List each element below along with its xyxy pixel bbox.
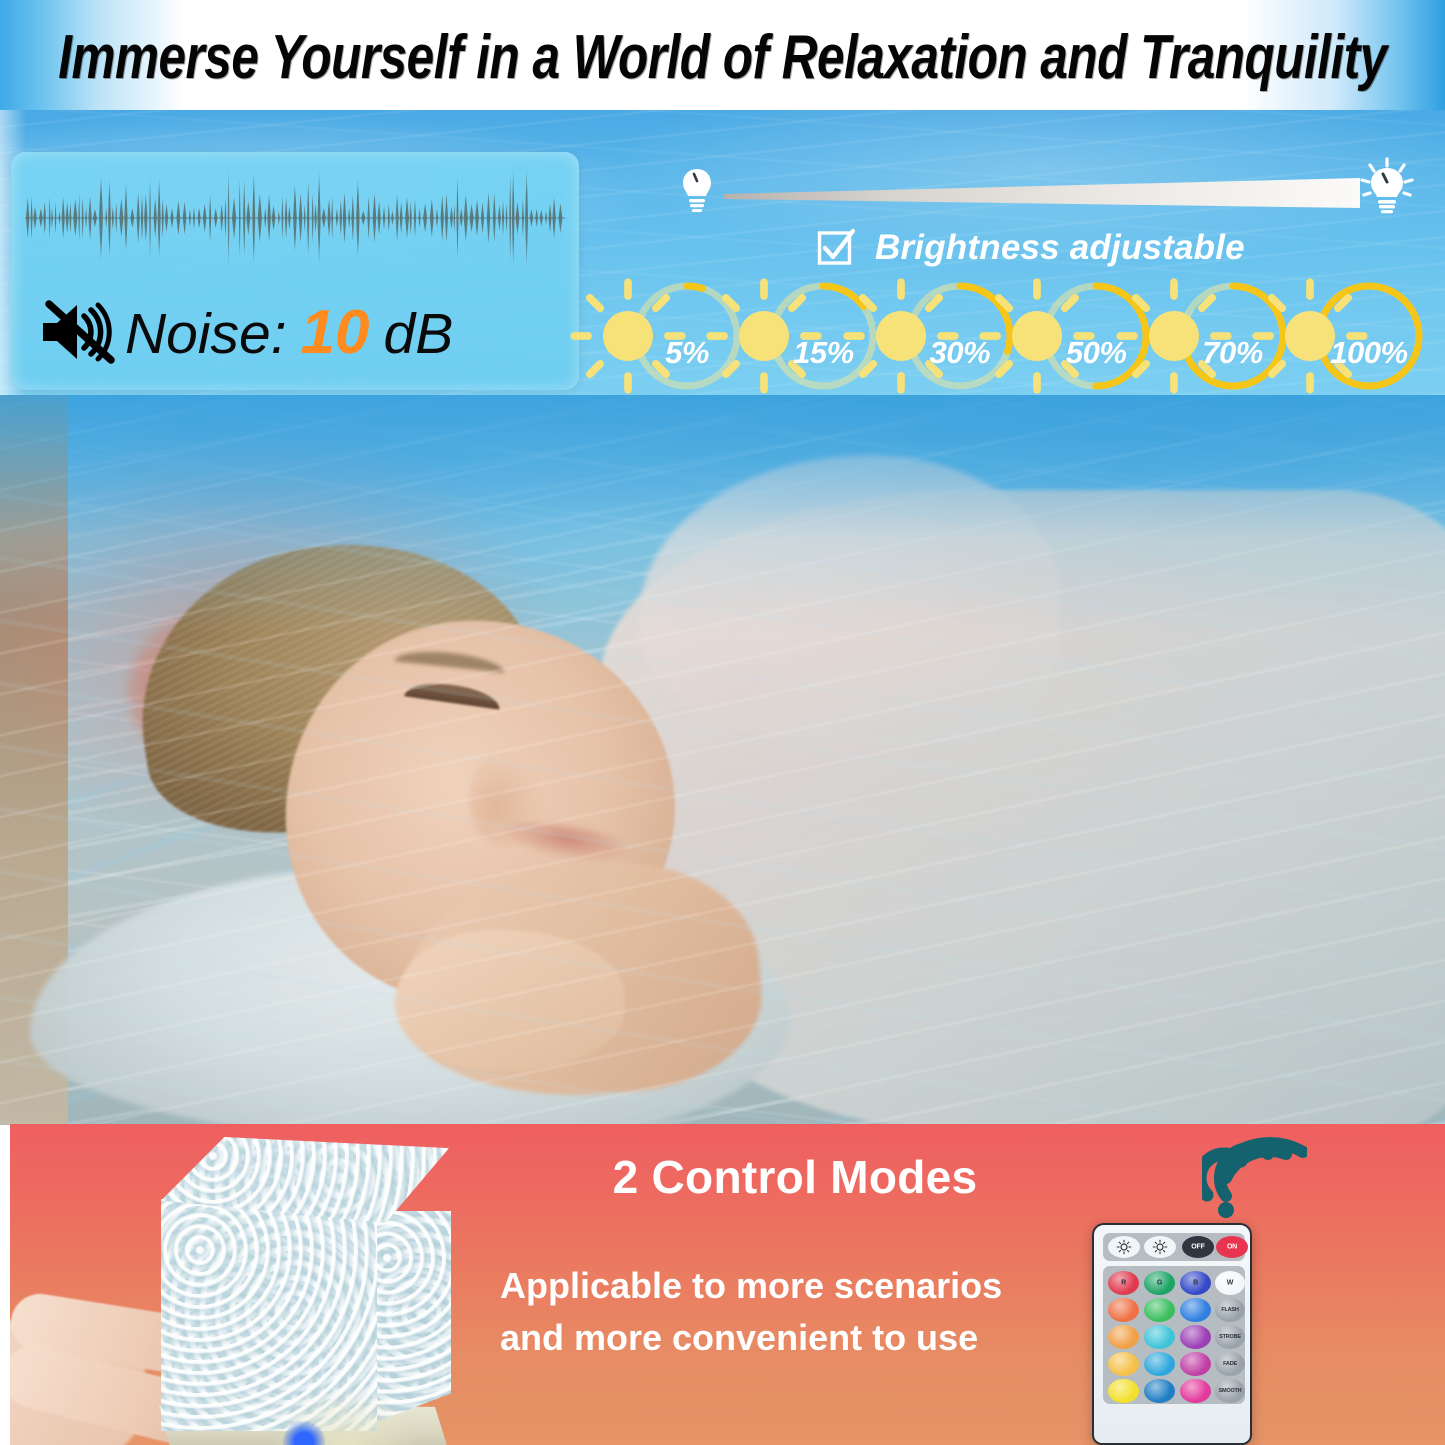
brightness-levels-row: 5% 15% (628, 277, 1428, 395)
brightness-level-100[interactable]: 100% (1310, 277, 1428, 395)
child-hand (395, 930, 625, 1070)
noise-card: Noise: 10 dB (11, 152, 579, 390)
hero-photo (0, 395, 1445, 1125)
crystal-cube-lamp (125, 1129, 475, 1445)
noise-text: Noise: 10 dB (125, 297, 453, 368)
remote-button-color-r1c1[interactable] (1144, 1298, 1175, 1322)
remote-button-label: OFF (1182, 1244, 1214, 1251)
remote-button-color-r2c2[interactable] (1180, 1325, 1211, 1349)
remote-button-label: FADE (1215, 1361, 1245, 1367)
remote-button-color-r4c2[interactable] (1180, 1379, 1211, 1403)
control-modes-title: 2 Control Modes (515, 1150, 1075, 1204)
noise-readout-row: Noise: 10 dB (39, 290, 569, 374)
remote-button-brightness-up-icon[interactable] (1144, 1236, 1176, 1258)
remote-button-brightness-down-icon[interactable] (1108, 1236, 1140, 1258)
remote-button-label: ON (1216, 1244, 1248, 1251)
remote-button-color-r1c0[interactable] (1108, 1298, 1139, 1322)
subtitle-line-2: and more convenient to use (500, 1312, 1100, 1364)
checkbox-checked-icon[interactable] (817, 229, 855, 267)
cube-front-face (161, 1199, 377, 1431)
wifi-signal-icon (1202, 1130, 1307, 1230)
remote-button-on[interactable]: ON (1216, 1236, 1248, 1258)
noise-value: 10 (301, 297, 370, 368)
remote-button-label: STROBE (1215, 1334, 1245, 1340)
page-title: Immerse Yourself in a World of Relaxatio… (22, 0, 1424, 124)
remote-button-strobe[interactable]: STROBE (1215, 1325, 1245, 1349)
product-infographic: Immerse Yourself in a World of Relaxatio… (0, 0, 1445, 1445)
blue-color-cast (0, 395, 1445, 635)
remote-button-b[interactable]: B (1180, 1271, 1211, 1295)
speaker-mute-icon (39, 300, 117, 364)
remote-button-color-r2c1[interactable] (1144, 1325, 1175, 1349)
brightness-icon (1117, 1240, 1132, 1255)
remote-button-label: G (1144, 1280, 1175, 1287)
ir-remote-control[interactable]: OFFONRGBWFLASHSTROBEFADESMOOTH (1092, 1223, 1252, 1445)
remote-button-color-r3c2[interactable] (1180, 1352, 1211, 1376)
noise-unit: dB (384, 301, 454, 367)
subtitle-line-1: Applicable to more scenarios (500, 1260, 1100, 1312)
remote-button-w[interactable]: W (1215, 1271, 1245, 1295)
brightness-slider-bar[interactable] (724, 177, 1360, 213)
remote-button-r[interactable]: R (1108, 1271, 1139, 1295)
brightness-icon (1153, 1240, 1168, 1255)
brightness-slider-row[interactable] (642, 153, 1422, 223)
remote-button-color-r1c2[interactable] (1180, 1298, 1211, 1322)
remote-button-color-r4c1[interactable] (1144, 1379, 1175, 1403)
remote-button-off[interactable]: OFF (1182, 1236, 1214, 1258)
bulb-dim-icon (680, 167, 714, 213)
remote-button-label: B (1180, 1280, 1211, 1287)
bulb-bright-icon (1356, 157, 1418, 219)
remote-button-color-r3c1[interactable] (1144, 1352, 1175, 1376)
brightness-adjustable-label: Brightness adjustable (875, 228, 1245, 268)
remote-button-label: FLASH (1215, 1307, 1245, 1313)
noise-label: Noise: (125, 301, 287, 367)
brightness-level-label: 100% (1310, 335, 1428, 371)
remote-button-color-r3c0[interactable] (1108, 1352, 1139, 1376)
brightness-panel: Brightness adjustable 5% (612, 145, 1432, 395)
remote-button-flash[interactable]: FLASH (1215, 1298, 1245, 1322)
remote-button-label: W (1215, 1280, 1245, 1287)
remote-button-color-r4c0[interactable] (1108, 1379, 1139, 1403)
control-modes-subtitle: Applicable to more scenarios and more co… (500, 1260, 1100, 1364)
remote-button-color-r2c0[interactable] (1108, 1325, 1139, 1349)
audio-waveform (25, 164, 565, 272)
remote-button-fade[interactable]: FADE (1215, 1352, 1245, 1376)
remote-button-label: R (1108, 1280, 1139, 1287)
brightness-adjustable-row[interactable]: Brightness adjustable (817, 223, 1245, 273)
remote-button-g[interactable]: G (1144, 1271, 1175, 1295)
remote-button-smooth[interactable]: SMOOTH (1215, 1379, 1245, 1403)
remote-button-label: SMOOTH (1215, 1388, 1245, 1394)
